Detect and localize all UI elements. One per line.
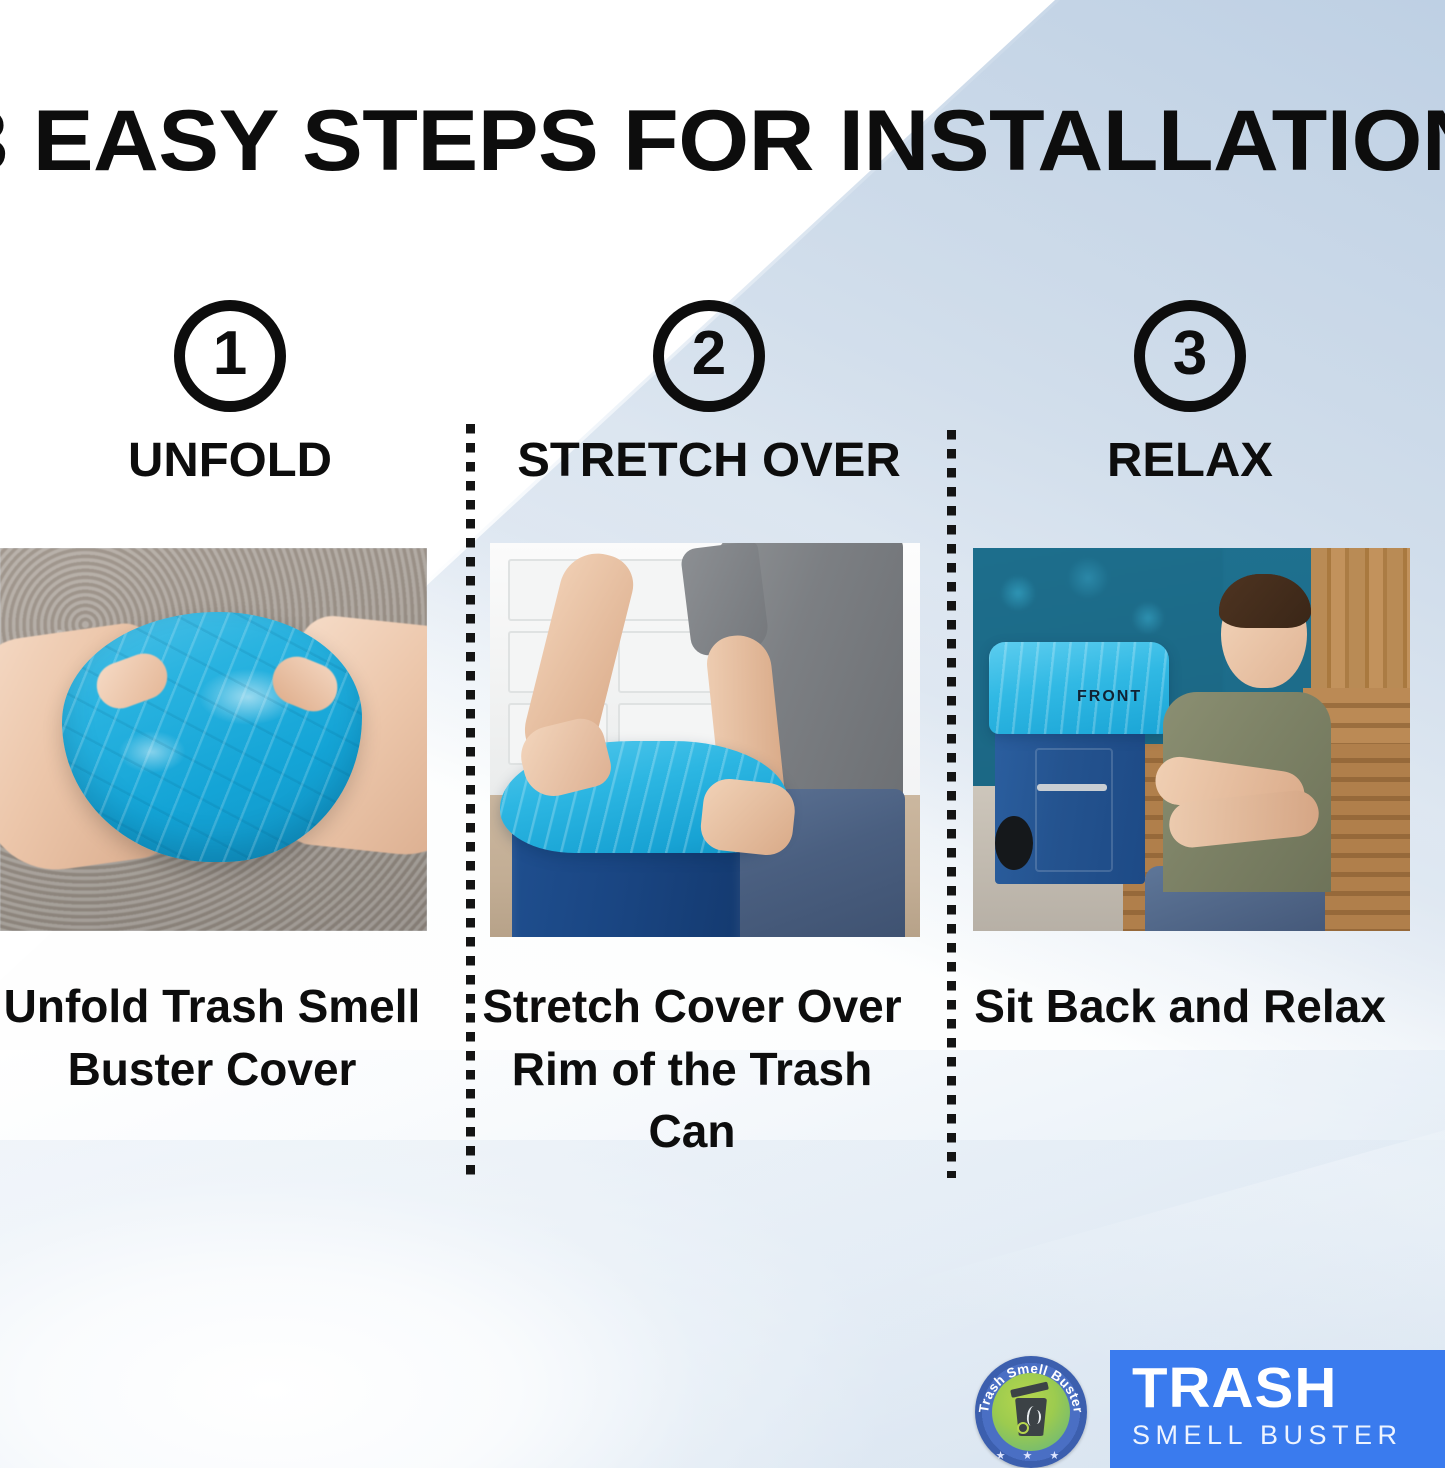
step-number-badge-2: 2 (653, 300, 765, 412)
step-photo-3-scene: FRONT (973, 548, 1410, 931)
step-caption-1: Unfold Trash Smell Buster Cover (0, 975, 432, 1100)
step-label-2: STRETCH OVER (469, 436, 948, 486)
step-number-badge-1: 1 (174, 300, 286, 412)
brand-badge: Trash Smell Buster ★ ★ ★ (975, 1356, 1087, 1468)
step-label-1: UNFOLD (0, 436, 470, 486)
brand-name-primary: TRASH (1132, 1360, 1445, 1417)
step-number-2: 2 (692, 323, 726, 385)
step-number-1: 1 (213, 323, 247, 385)
bin-wheel-shape (1017, 1422, 1029, 1434)
step-caption-2: Stretch Cover Over Rim of the Trash Can (472, 975, 912, 1163)
badge-stars: ★ ★ ★ (975, 1449, 1087, 1462)
step-column-1: 1 UNFOLD (0, 300, 465, 486)
step-caption-3: Sit Back and Relax (960, 975, 1400, 1038)
step-photo-2-scene (490, 543, 920, 937)
brand-panel: TRASH SMELL BUSTER (1110, 1350, 1445, 1468)
trash-bin-icon (1011, 1388, 1051, 1436)
divider-dotted-1 (466, 424, 475, 1176)
brand-name-secondary: SMELL BUSTER (1132, 1422, 1445, 1449)
trash-bin-wheel (995, 816, 1033, 870)
divider-dotted-2 (947, 430, 956, 1178)
step-photo-1 (0, 548, 427, 931)
cover-front-label: FRONT (1077, 688, 1142, 706)
step-column-2: 2 STRETCH OVER (474, 300, 944, 486)
trash-bin-handle (1037, 784, 1107, 791)
step-photo-1-scene (0, 548, 427, 931)
step-photo-3: FRONT (973, 548, 1410, 931)
step-number-3: 3 (1173, 323, 1207, 385)
trash-bin-panel (1035, 748, 1113, 872)
brand-logo: Trash Smell Buster ★ ★ ★ TRASH SMELL BUS… (975, 1348, 1445, 1468)
step-photo-2 (490, 543, 920, 937)
odor-swirl-icon-2 (1032, 1410, 1041, 1424)
installation-steps-infographic: 3 EASY STEPS FOR INSTALLATION 1 UNFOLD 2… (0, 0, 1445, 1468)
step-label-3: RELAX (950, 436, 1429, 486)
step-column-3: 3 RELAX (955, 300, 1425, 486)
page-title: 3 EASY STEPS FOR INSTALLATION (0, 96, 1445, 186)
person-right-hand (698, 776, 797, 857)
step-number-badge-3: 3 (1134, 300, 1246, 412)
